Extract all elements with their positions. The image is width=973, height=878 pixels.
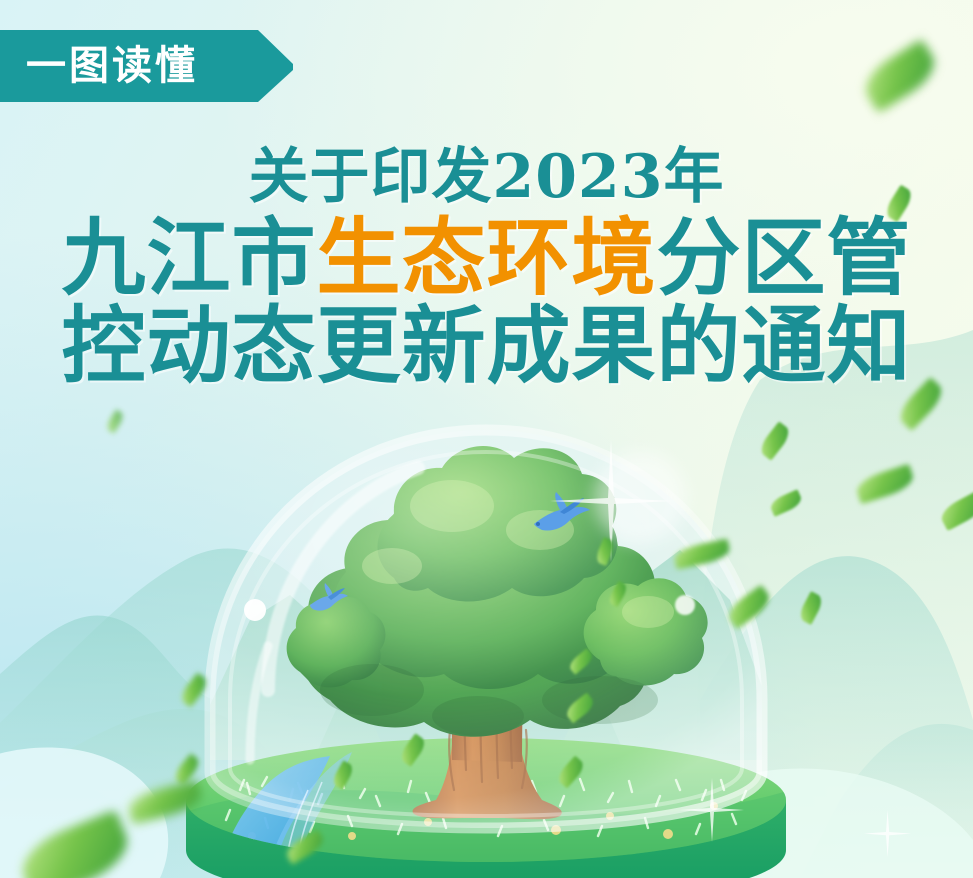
title-highlight-eco-environment: 生态环境 <box>316 208 656 307</box>
sparkle-star-tiny <box>864 810 911 857</box>
infographic-poster: 一图读懂 关于印发2023年 九江市生态环境分区管 控动态更新成果的通知 <box>0 0 973 878</box>
title-line-2: 九江市生态环境分区管 <box>0 214 973 302</box>
title-line-2-part-1: 九江市 <box>61 208 316 307</box>
page-title: 关于印发2023年 九江市生态环境分区管 控动态更新成果的通知 <box>0 140 973 390</box>
title-line-2-part-2: 分区管 <box>657 208 912 307</box>
glass-dome <box>210 430 762 828</box>
title-line-1: 关于印发2023年 <box>0 140 973 214</box>
title-line-3: 控动态更新成果的通知 <box>0 302 973 390</box>
eco-illustration <box>0 0 973 878</box>
read-in-one-picture-badge[interactable]: 一图读懂 <box>0 30 293 102</box>
badge-label: 一图读懂 <box>0 46 198 86</box>
